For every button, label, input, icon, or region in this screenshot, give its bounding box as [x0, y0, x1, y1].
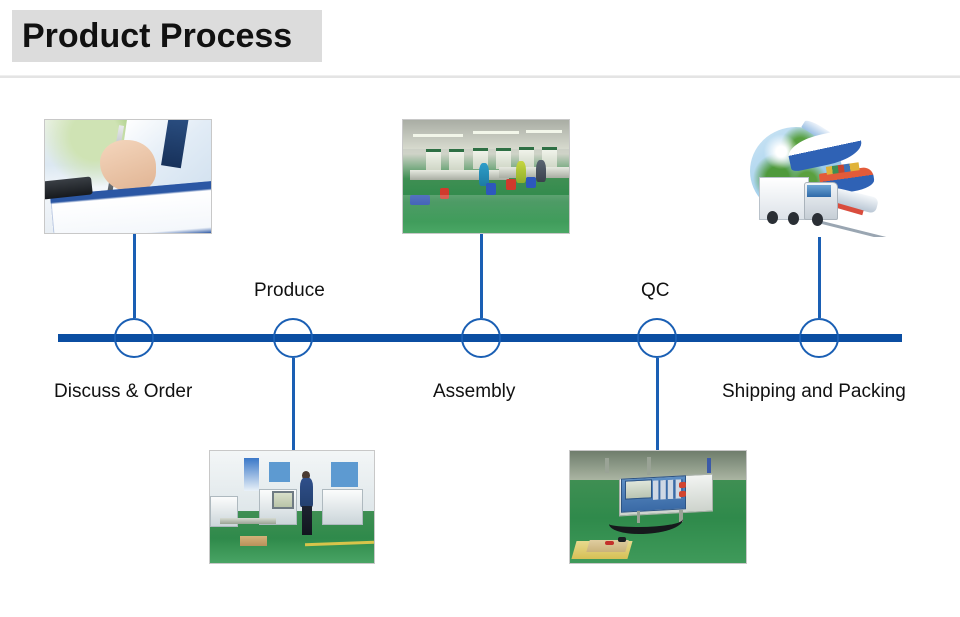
connector-step-4	[656, 358, 659, 450]
node-cap-5	[801, 334, 837, 342]
header-divider	[0, 75, 960, 78]
qc-test-equipment-photo	[569, 450, 747, 564]
signing-contract-photo	[44, 119, 212, 234]
timeline-label-3: Assembly	[433, 380, 515, 404]
timeline-label-2: Produce	[254, 279, 325, 303]
node-cap-2	[275, 334, 311, 342]
page-header: Product Process	[0, 0, 960, 76]
connector-step-5	[818, 237, 821, 318]
assembly-line-photo	[402, 119, 570, 234]
connector-step-1	[133, 234, 136, 318]
node-cap-3	[463, 334, 499, 342]
connector-step-2	[292, 358, 295, 450]
timeline-label-5: Shipping and Packing	[722, 380, 906, 404]
production-workshop-photo	[209, 450, 375, 564]
connector-step-3	[480, 234, 483, 318]
page-title: Product Process	[22, 16, 292, 56]
timeline-label-4: QC	[641, 279, 670, 303]
node-cap-1	[116, 334, 152, 342]
timeline-label-1: Discuss & Order	[54, 380, 192, 404]
node-cap-4	[639, 334, 675, 342]
global-logistics-photo	[740, 117, 900, 237]
